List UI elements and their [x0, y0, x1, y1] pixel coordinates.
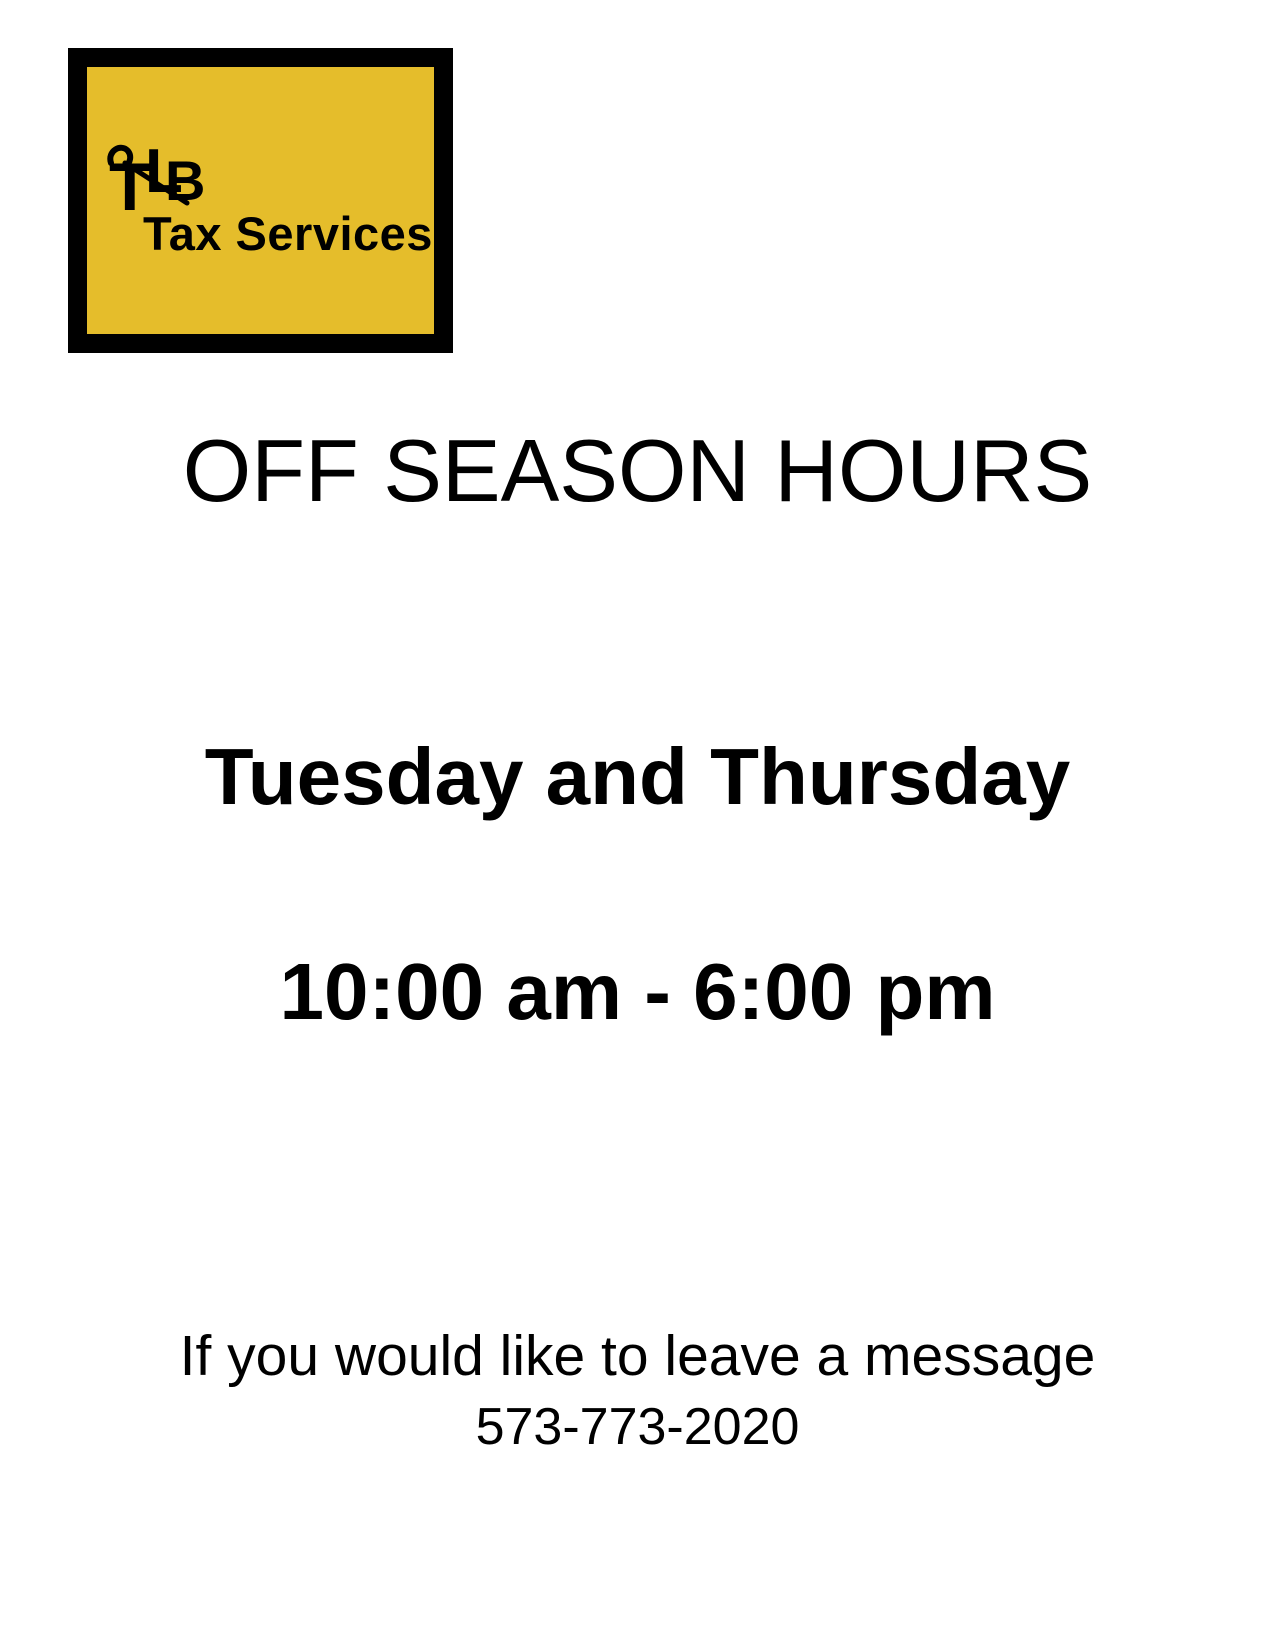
voicemail-message-text: If you would like to leave a message [0, 1327, 1275, 1387]
logo-monogram-t: T [109, 153, 147, 221]
page-title: OFF SEASON HOURS [0, 425, 1275, 517]
open-days-text: Tuesday and Thursday [0, 735, 1275, 819]
logo-container: T L B Tax Services [68, 48, 453, 353]
logo-tagline: Tax Services [143, 210, 433, 257]
logo-inner: T L B Tax Services [87, 67, 434, 334]
phone-number-text: 573-773-2020 [0, 1400, 1275, 1455]
logo-monogram-b: B [165, 153, 205, 209]
open-hours-text: 10:00 am - 6:00 pm [0, 950, 1275, 1034]
sign-page: T L B Tax Services OFF SEASON HOURS Tues… [0, 0, 1275, 1650]
